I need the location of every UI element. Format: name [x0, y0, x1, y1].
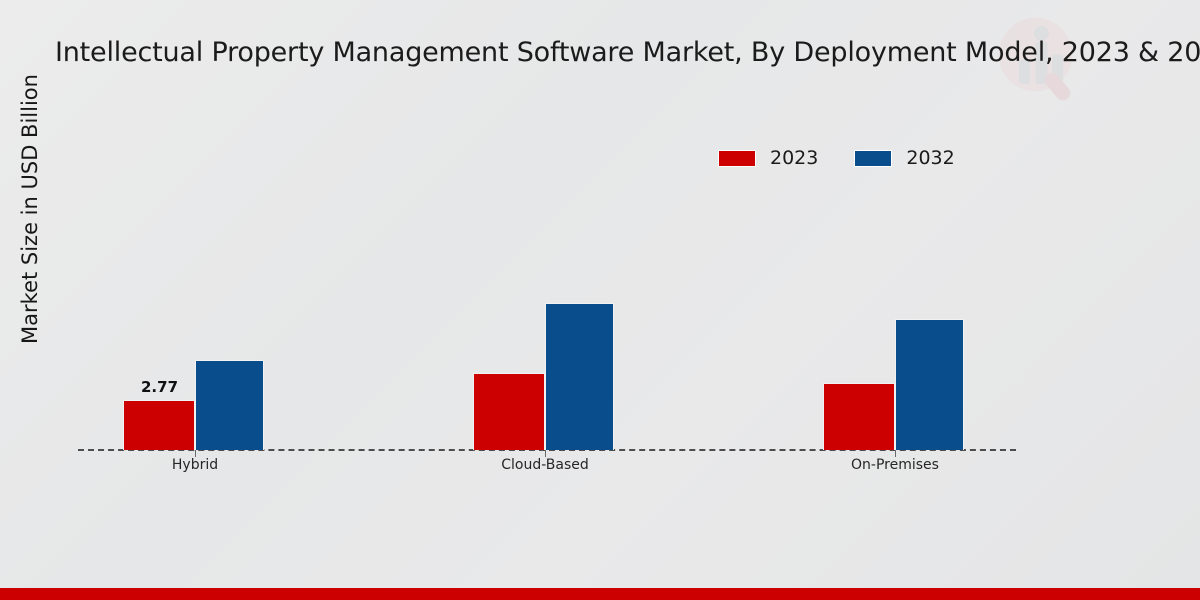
x-axis-tick — [545, 450, 546, 457]
y-axis-title: Market Size in USD Billion — [18, 29, 42, 389]
x-axis-tick — [895, 450, 896, 457]
x-axis-label-on-premises: On-Premises — [851, 457, 939, 473]
bar-on-premises-2032[interactable] — [895, 319, 964, 450]
bar-on-premises-2023[interactable] — [823, 383, 895, 450]
page-title: Intellectual Property Management Softwar… — [55, 36, 1200, 70]
x-axis-label-cloud-based: Cloud-Based — [501, 457, 589, 473]
legend-item-2023[interactable]: 2023 — [718, 147, 818, 169]
x-axis-label-hybrid: Hybrid — [172, 457, 218, 473]
legend-label-2032: 2032 — [906, 147, 954, 169]
bar-cloud-based-2032[interactable] — [545, 303, 614, 450]
footer-accent-strip — [0, 588, 1200, 600]
bar-hybrid-2032[interactable] — [195, 360, 264, 450]
x-axis-baseline — [78, 449, 1016, 451]
chart-legend: 2023 2032 — [718, 147, 955, 169]
bar-cloud-based-2023[interactable] — [473, 373, 545, 450]
legend-swatch-icon — [854, 150, 892, 167]
x-axis-tick — [195, 450, 196, 457]
legend-swatch-icon — [718, 150, 756, 167]
legend-item-2032[interactable]: 2032 — [854, 147, 954, 169]
bar-hybrid-2023[interactable] — [123, 400, 195, 450]
bar-value-label: 2.77 — [141, 378, 178, 396]
legend-label-2023: 2023 — [770, 147, 818, 169]
chart-container: Intellectual Property Management Softwar… — [0, 0, 1200, 600]
plot-area: 2.77HybridCloud-BasedOn-Premises — [0, 0, 1200, 600]
